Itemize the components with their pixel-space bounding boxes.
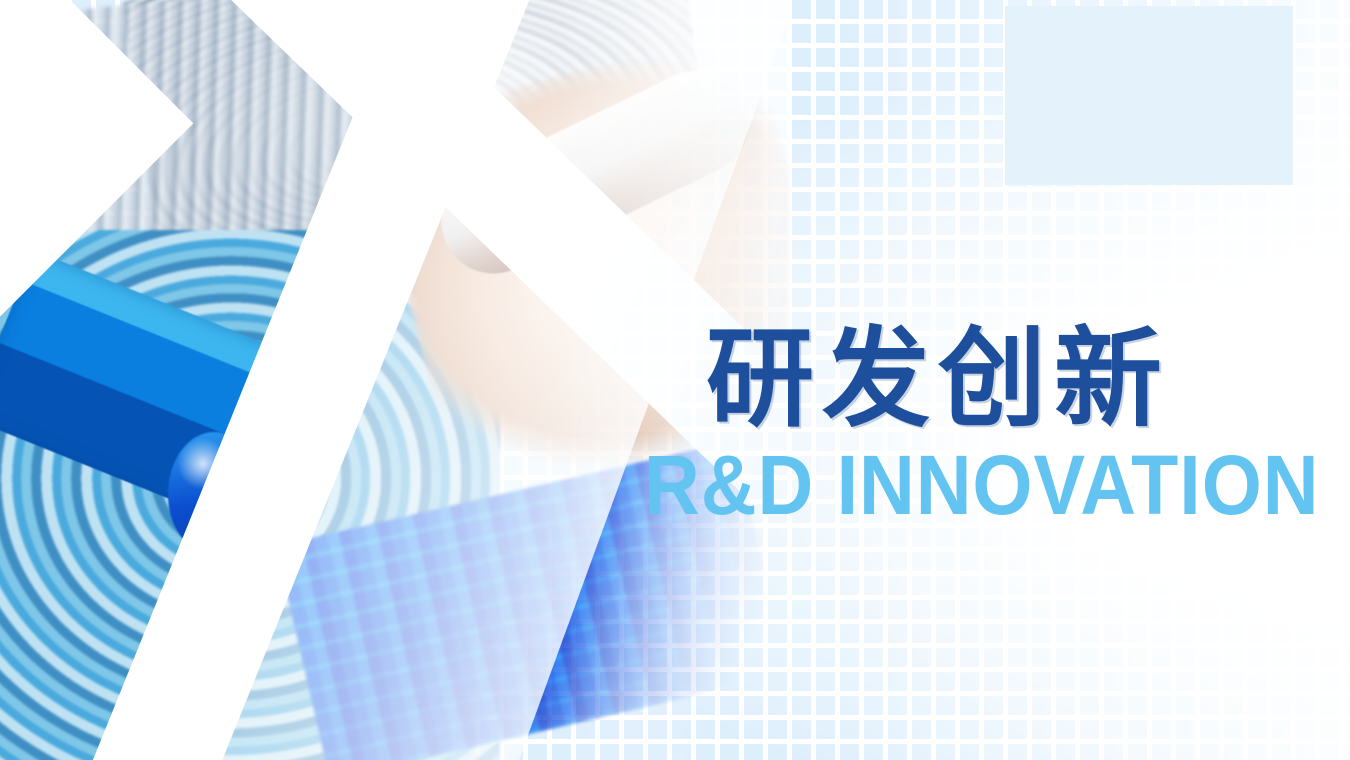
headline-block: 研发创新 R&D INNOVATION xyxy=(706,322,1306,527)
page-title-cn: 研发创新 xyxy=(706,322,1306,435)
logo-panel: 恒瑞 xyxy=(1005,6,1293,185)
rd-innovation-banner: 恒瑞 研发创新 R&D INNOVATION xyxy=(0,0,1350,760)
photo-montage xyxy=(0,0,790,760)
page-title-en: R&D INNOVATION xyxy=(644,443,1253,527)
